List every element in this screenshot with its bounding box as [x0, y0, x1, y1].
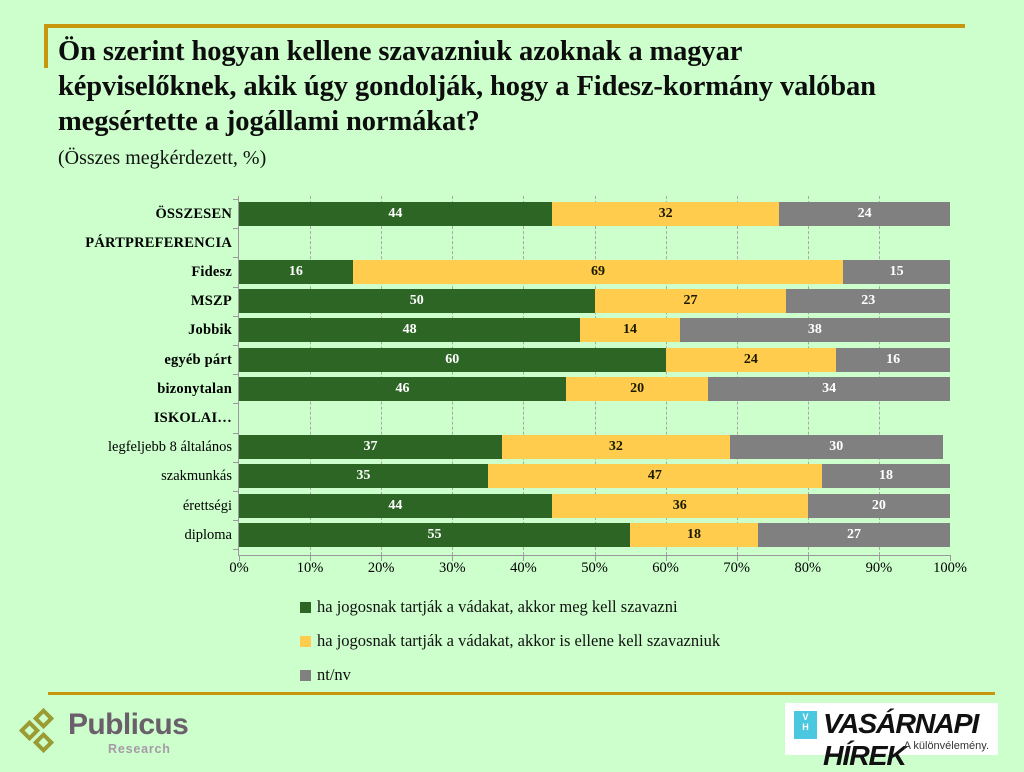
category-label: diploma [0, 526, 232, 544]
x-axis-tick-label: 50% [581, 560, 608, 577]
category-label: Fidesz [0, 263, 232, 281]
bar-segment: 16 [836, 348, 950, 372]
bar-segment: 60 [239, 348, 666, 372]
bar-segment: 48 [239, 318, 580, 342]
y-axis-tick [233, 520, 239, 521]
chart-bar-row: 373230 [239, 435, 950, 459]
y-axis-tick [233, 403, 239, 404]
bar-segment: 20 [808, 494, 950, 518]
bar-segment: 36 [552, 494, 808, 518]
chart-bar-row: 502723 [239, 289, 950, 313]
y-axis-tick [233, 433, 239, 434]
y-axis-tick [233, 462, 239, 463]
bar-segment: 55 [239, 523, 630, 547]
y-axis-tick [233, 374, 239, 375]
bar-segment: 30 [730, 435, 943, 459]
page-title-line-2: képviselőknek, akik úgy gondolják, hogy … [58, 69, 988, 104]
x-axis-tick-label: 40% [510, 560, 537, 577]
bar-segment: 69 [353, 260, 844, 284]
category-label: PÁRTPREFERENCIA [0, 234, 232, 252]
category-label: szakmunkás [0, 467, 232, 485]
category-label: legfeljebb 8 általános [0, 438, 232, 456]
y-axis-tick [233, 287, 239, 288]
bar-segment: 18 [822, 464, 950, 488]
page-subtitle: (Összes megkérdezett, %) [58, 145, 988, 171]
legend-item[interactable]: ha jogosnak tartják a vádakat, akkor is … [300, 630, 720, 652]
legend-swatch-icon [300, 602, 311, 613]
bar-segment: 20 [566, 377, 708, 401]
x-axis-tick-label: 70% [723, 560, 750, 577]
y-axis-tick [233, 257, 239, 258]
publicus-diamond-icon [22, 711, 66, 757]
x-axis-tick-label: 30% [439, 560, 466, 577]
chart-bar-row: 443224 [239, 202, 950, 226]
category-label: bizonytalan [0, 380, 232, 398]
legend-item[interactable]: ha jogosnak tartják a vádakat, akkor meg… [300, 596, 678, 618]
chart-bar-row: 443620 [239, 494, 950, 518]
bar-segment: 37 [239, 435, 502, 459]
y-axis-tick [233, 316, 239, 317]
publicus-subtitle: Research [108, 742, 171, 756]
page-title-line-1: Ön szerint hogyan kellene szavazniuk azo… [58, 34, 988, 69]
bar-segment: 44 [239, 202, 552, 226]
bar-segment: 35 [239, 464, 488, 488]
title-block: Ön szerint hogyan kellene szavazniuk azo… [58, 34, 988, 171]
y-axis-tick [233, 491, 239, 492]
x-axis-tick-label: 90% [866, 560, 893, 577]
x-axis-tick-label: 10% [297, 560, 324, 577]
chart-plot-area: 4432241669155027234814386024164620343732… [239, 196, 950, 556]
bar-segment: 44 [239, 494, 552, 518]
y-axis-tick [233, 228, 239, 229]
bar-segment: 14 [580, 318, 680, 342]
x-axis-tick-label: 80% [795, 560, 822, 577]
top-accent-rule [44, 24, 965, 28]
page-title-line-3: megsértette a jogállami normákat? [58, 104, 988, 139]
bar-segment: 23 [786, 289, 950, 313]
bar-segment: 18 [630, 523, 758, 547]
legend-label: ha jogosnak tartják a vádakat, akkor is … [317, 631, 720, 651]
bottom-accent-rule [48, 692, 995, 695]
bar-segment: 38 [680, 318, 950, 342]
publicus-wordmark: Publicus [68, 708, 188, 742]
vh-monogram-icon: V H [794, 711, 817, 739]
chart-bar-row: 602416 [239, 348, 950, 372]
bar-segment: 34 [708, 377, 950, 401]
category-label: érettségi [0, 497, 232, 515]
x-axis-tick-label: 100% [933, 560, 967, 577]
bar-segment: 46 [239, 377, 566, 401]
chart-bar-row: 481438 [239, 318, 950, 342]
y-axis-tick [233, 549, 239, 550]
x-axis-tick-label: 60% [652, 560, 679, 577]
vh-badge-bottom: H [794, 723, 817, 733]
bar-segment: 16 [239, 260, 353, 284]
category-label: ISKOLAI… [0, 409, 232, 427]
y-axis-tick [233, 345, 239, 346]
bar-segment: 24 [779, 202, 950, 226]
bar-segment: 32 [502, 435, 730, 459]
chart-bar-row: 166915 [239, 260, 950, 284]
stacked-bar-chart: ÖSSZESENPÁRTPREFERENCIAFideszMSZPJobbike… [0, 196, 1024, 576]
category-label: ÖSSZESEN [0, 205, 232, 223]
bar-segment: 15 [843, 260, 950, 284]
x-axis-tick-label: 0% [229, 560, 248, 577]
legend-label: nt/nv [317, 665, 351, 685]
bar-segment: 27 [758, 523, 950, 547]
category-axis-labels: ÖSSZESENPÁRTPREFERENCIAFideszMSZPJobbike… [0, 196, 232, 556]
top-accent-corner [44, 24, 48, 68]
category-label: Jobbik [0, 321, 232, 339]
category-label: MSZP [0, 292, 232, 310]
vasarnapi-hirek-logo: V H VASÁRNAPI HÍREK A különvélemény. [785, 703, 998, 755]
bar-segment: 24 [666, 348, 837, 372]
bar-segment: 27 [595, 289, 787, 313]
chart-bar-row: 354718 [239, 464, 950, 488]
vh-tagline: A különvélemény. [904, 740, 989, 752]
category-label: egyéb párt [0, 351, 232, 369]
x-axis-tick-label: 20% [368, 560, 395, 577]
publicus-logo: Publicus Research [22, 706, 182, 761]
y-axis-tick [233, 199, 239, 200]
bar-segment: 50 [239, 289, 595, 313]
legend-swatch-icon [300, 670, 311, 681]
bar-segment: 32 [552, 202, 780, 226]
bar-segment: 47 [488, 464, 822, 488]
legend-label: ha jogosnak tartják a vádakat, akkor meg… [317, 597, 678, 617]
chart-bar-row: 551827 [239, 523, 950, 547]
chart-bar-row: 462034 [239, 377, 950, 401]
x-axis-tick-labels: 0%10%20%30%40%50%60%70%80%90%100% [239, 560, 950, 582]
legend-swatch-icon [300, 636, 311, 647]
legend-item[interactable]: nt/nv [300, 664, 351, 686]
